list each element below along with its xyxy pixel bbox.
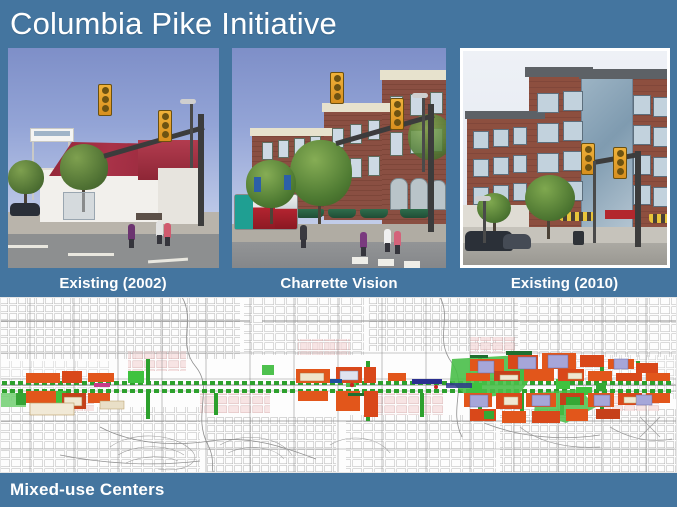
street-light-pole [190, 102, 193, 168]
trash-bin [573, 231, 584, 245]
lane-marking [8, 245, 48, 248]
window [653, 127, 669, 147]
window [537, 153, 559, 173]
traffic-signal-icon [158, 110, 172, 142]
street-banner [284, 175, 291, 190]
title-bar: Columbia Pike Initiative [0, 0, 677, 46]
window [653, 97, 669, 117]
street-tree [8, 160, 44, 194]
corridor-plan-map [0, 297, 677, 473]
street-light-pole [593, 161, 596, 243]
streetcar-rear [235, 195, 253, 229]
window [493, 129, 509, 147]
caption-existing-2002: Existing (2002) [0, 270, 226, 297]
street-light-head [475, 196, 491, 201]
map-mixeduse-west [16, 371, 124, 415]
window [390, 132, 403, 156]
window [563, 91, 583, 111]
parked-car [503, 234, 531, 249]
arched-window [390, 178, 408, 210]
lane-marking [68, 253, 114, 256]
photo-existing-2010 [460, 48, 670, 268]
storefront-awning [400, 209, 430, 218]
cornice [380, 70, 446, 80]
pedestrian [128, 224, 135, 240]
street-tree [60, 144, 108, 190]
building-side-wall [158, 168, 200, 224]
street-tree [290, 140, 352, 206]
photo-existing-2002 [8, 48, 219, 268]
window [278, 140, 289, 158]
window [633, 95, 651, 115]
slide: Columbia Pike Initiative [0, 0, 677, 507]
pedestrian [384, 229, 391, 244]
striped-awning [649, 214, 670, 223]
window [537, 93, 559, 113]
photo-caption-band: Existing (2002) Charrette Vision Existin… [0, 270, 677, 297]
cornice [322, 103, 398, 112]
pedestrian [300, 225, 307, 240]
page-title: Columbia Pike Initiative [10, 4, 337, 44]
storefront-awning [328, 209, 356, 218]
window [473, 159, 489, 177]
traffic-signal-icon [390, 98, 404, 130]
photo-strip [0, 46, 677, 270]
street-tree [525, 175, 575, 221]
window [473, 131, 489, 149]
signal-pole [635, 151, 641, 247]
map-canvas [0, 297, 677, 473]
window [563, 121, 583, 141]
crosswalk-stripe [404, 261, 420, 268]
crosswalk-stripe [378, 259, 394, 266]
street-light-pole [422, 96, 425, 172]
photo-charrette-vision [232, 48, 446, 268]
traffic-signal-icon [613, 147, 627, 179]
window [513, 155, 527, 173]
safeway-sign [30, 128, 74, 142]
footer-label: Mixed-use Centers [10, 473, 165, 507]
storefront-awning [360, 209, 388, 218]
pedestrian [360, 232, 367, 248]
parked-car [10, 203, 40, 216]
street-banner [254, 177, 261, 192]
caption-existing-2010: Existing (2010) [452, 270, 677, 297]
window [262, 142, 273, 160]
window [368, 156, 380, 176]
roof-cap [465, 111, 545, 119]
traffic-signal-icon [330, 72, 344, 104]
street-light-head [180, 99, 196, 104]
window [653, 157, 669, 177]
window [653, 187, 669, 207]
bench [136, 213, 162, 220]
traffic-signal-icon [98, 84, 112, 116]
crosswalk-stripe [352, 257, 368, 264]
window [633, 125, 651, 145]
caption-charrette-vision: Charrette Vision [226, 270, 452, 297]
signal-pole [428, 104, 434, 232]
street-light-head [412, 93, 428, 98]
cornice [250, 128, 334, 136]
roof-cap [579, 69, 670, 79]
pedestrian [156, 221, 163, 236]
window [563, 151, 583, 171]
footer-bar: Mixed-use Centers [0, 473, 677, 507]
arched-window [410, 178, 428, 210]
window [513, 127, 527, 145]
retail-sign [605, 210, 639, 219]
pedestrian [164, 223, 171, 238]
street-light-pole [483, 199, 486, 243]
window [493, 157, 509, 175]
pedestrian [394, 231, 401, 246]
bus-shelter [63, 192, 95, 220]
window [537, 123, 559, 143]
